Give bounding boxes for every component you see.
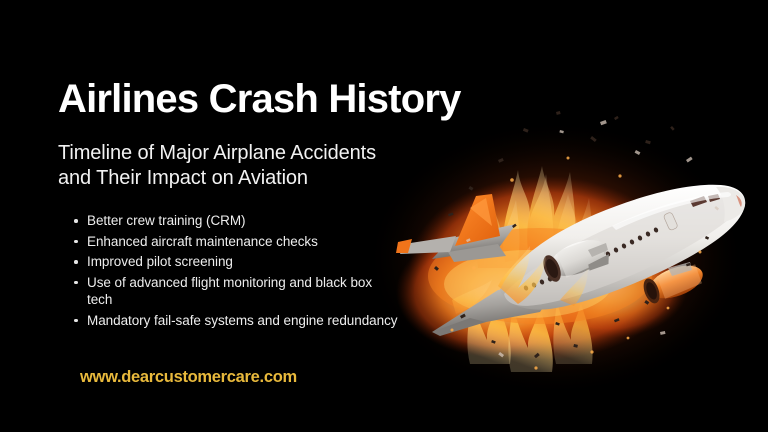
list-item: Mandatory fail-safe systems and engine r… bbox=[70, 312, 400, 330]
list-item: Improved pilot screening bbox=[70, 253, 400, 271]
safety-improvements-list: Better crew training (CRM) Enhanced airc… bbox=[70, 212, 400, 332]
list-item: Use of advanced flight monitoring and bl… bbox=[70, 274, 400, 309]
list-item: Better crew training (CRM) bbox=[70, 212, 400, 230]
website-url[interactable]: www.dearcustomercare.com bbox=[80, 367, 297, 387]
page-subtitle: Timeline of Major Airplane Accidents and… bbox=[58, 141, 458, 191]
slide-content: Airlines Crash History Timeline of Major… bbox=[0, 0, 768, 432]
subtitle-line-1: Timeline of Major Airplane Accidents bbox=[58, 141, 458, 166]
slide-canvas: Airlines Crash History Timeline of Major… bbox=[0, 0, 768, 432]
subtitle-line-2: and Their Impact on Aviation bbox=[58, 166, 458, 191]
page-title: Airlines Crash History bbox=[58, 76, 461, 122]
list-item: Enhanced aircraft maintenance checks bbox=[70, 233, 400, 251]
